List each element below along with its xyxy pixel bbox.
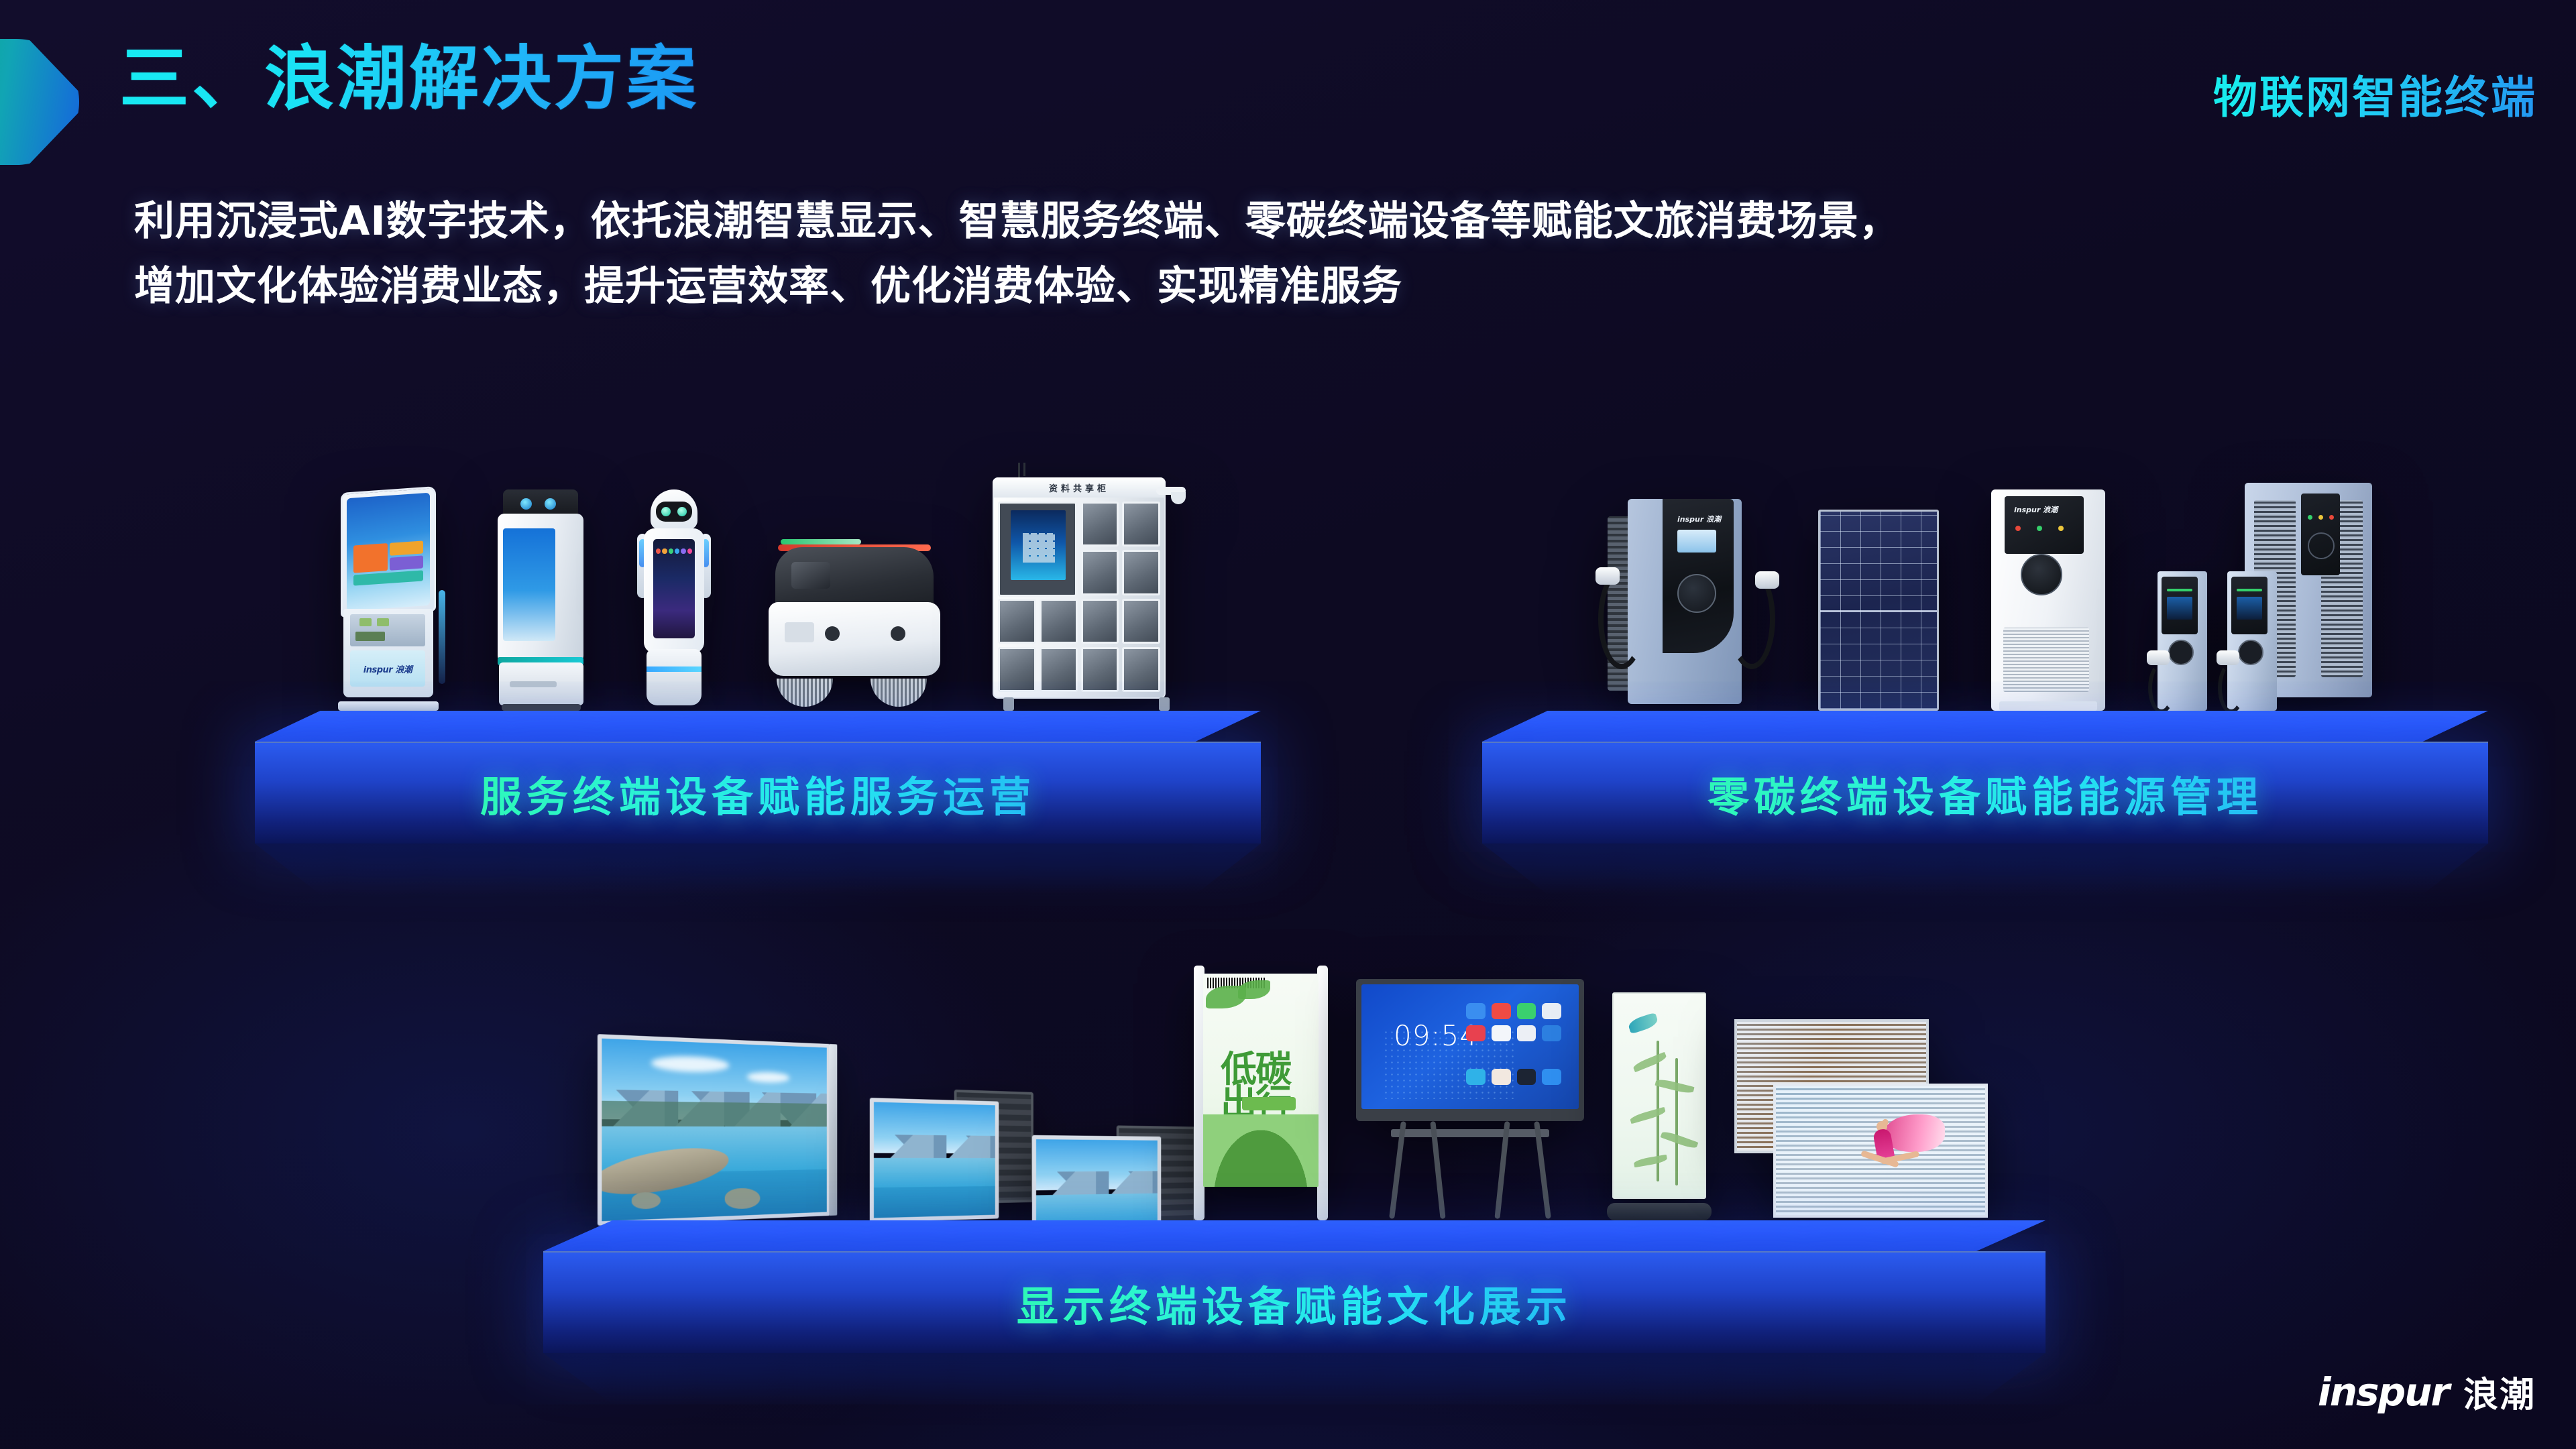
section-tag: 物联网智能终端 — [2213, 62, 2537, 126]
locker-caption: 资料共享柜 — [1049, 481, 1109, 494]
pillar-cable-2 — [2218, 662, 2245, 713]
device-cleaning-sweeper-robot — [758, 510, 952, 711]
rack-charge-pillar-1 — [2158, 571, 2207, 711]
lead-line-1: 利用沉浸式AI数字技术，依托浪潮智慧显示、智慧服务终端、零碳终端设备等赋能文旅消… — [134, 189, 2428, 254]
bamboo-leaf-3 — [1630, 1107, 1667, 1124]
banner-front-face: 显示终端设备赋能文化展示 — [543, 1251, 2046, 1353]
banner-label-display: 显示终端设备赋能文化展示 — [1017, 1273, 1572, 1333]
terminal-body — [498, 514, 583, 662]
banner-service-terminals: 服务终端设备赋能服务运营 — [255, 711, 1261, 844]
bamboo-leaf-2 — [1655, 1078, 1694, 1095]
device-energy-storage-cabinet: inspur 浪潮 — [1991, 489, 2105, 711]
kiosk-base — [338, 701, 439, 711]
lead-paragraph: 利用沉浸式AI数字技术，依托浪潮智慧显示、智慧服务终端、零碳终端设备等赋能文旅消… — [134, 189, 2428, 319]
locker-antenna-2 — [1023, 463, 1025, 476]
transparent-led-panel-front — [1773, 1084, 1988, 1218]
signage-poster: 低碳出行 — [1203, 974, 1319, 1187]
pillar-head-2 — [2231, 577, 2267, 634]
charger-gun-right[interactable] — [1755, 571, 1779, 589]
storage-control-panel: inspur 浪潮 — [2005, 496, 2084, 554]
locker-caster-right — [1159, 697, 1170, 711]
device-led-cabinet-module — [870, 1098, 999, 1222]
robot-face-icon — [656, 502, 692, 522]
signage-road-art — [1203, 1114, 1319, 1187]
banner-display-terminals: 显示终端设备赋能文化展示 — [543, 1220, 2046, 1353]
storage-base — [1999, 701, 2097, 711]
pillar-cable-1 — [2148, 662, 2175, 713]
charger-brand-label: inspur 浪潮 — [1677, 514, 1721, 524]
charger-display — [1677, 530, 1716, 553]
lead-line-2: 增加文化体验消费业态，提升运营效率、优化消费体验、实现精准服务 — [134, 254, 2428, 319]
logo-chinese-name: 浪潮 — [2463, 1367, 2536, 1417]
signage-cta-bar — [1242, 1097, 1296, 1110]
led-module-mountains — [874, 1135, 995, 1160]
storage-indicator-dial — [2021, 554, 2062, 595]
banner-top-face — [543, 1220, 2046, 1251]
device-row-display: 低碳出行 09:54 — [543, 925, 2046, 1220]
kiosk-screen — [347, 493, 430, 612]
slide-root: 三、浪潮解决方案 物联网智能终端 利用沉浸式AI数字技术，依托浪潮智慧显示、智慧… — [0, 0, 2576, 1449]
device-ev-charging-pile: inspur 浪潮 — [1598, 489, 1766, 711]
bamboo-leaf-5 — [1633, 1155, 1667, 1168]
group-display-terminals: 低碳出行 09:54 — [543, 925, 2046, 1353]
banner-top-face — [1482, 711, 2488, 742]
dancer-artwork — [1856, 1106, 1937, 1194]
led-wall-side-rail — [829, 1044, 837, 1216]
device-service-terminal-robot — [490, 489, 590, 711]
whiteboard-frame: 09:54 — [1356, 979, 1584, 1121]
device-transparent-led-screen — [1734, 1019, 1989, 1220]
device-art-display-panel — [1612, 992, 1706, 1220]
locker-caster-left — [1003, 697, 1014, 711]
terminal-base — [499, 662, 583, 705]
terminal-wheels — [502, 704, 581, 711]
sweeper-brush-right — [871, 679, 927, 707]
banner-zero-carbon: 零碳终端设备赋能能源管理 — [1482, 711, 2488, 844]
charger-gun-left[interactable] — [1595, 567, 1620, 585]
sweeper-hull — [769, 602, 940, 676]
kiosk-screen-housing — [341, 486, 436, 618]
charger-front-panel: inspur 浪潮 — [1663, 499, 1734, 653]
brand-logo: inspur 浪潮 — [2318, 1367, 2536, 1417]
pillar-gun-1[interactable] — [2147, 650, 2170, 665]
device-interactive-whiteboard: 09:54 — [1356, 979, 1584, 1220]
storage-vent-grille — [2003, 628, 2089, 692]
kiosk-dispenser-panel — [350, 614, 425, 646]
signage-post-right — [1317, 966, 1328, 1220]
pillar-head-1 — [2162, 577, 2198, 634]
page-title: 三、浪潮解决方案 — [119, 38, 699, 120]
rack-control-panel — [2301, 494, 2340, 575]
signage-leaf-2 — [1238, 980, 1270, 999]
pillar-gun-2[interactable] — [2217, 650, 2239, 665]
charger-connector-dial — [1677, 574, 1716, 613]
whiteboard-screen[interactable]: 09:54 — [1361, 984, 1579, 1109]
rack-charge-pillar-2 — [2227, 571, 2277, 711]
led-module-reflection — [874, 1158, 995, 1188]
led-wall-panel — [598, 1034, 830, 1226]
art-panel-screen — [1612, 992, 1706, 1199]
robot-torso — [644, 528, 704, 653]
bamboo-stalk-2 — [1675, 1058, 1678, 1185]
led-module-panel — [870, 1098, 999, 1222]
device-led-video-wall — [598, 1034, 830, 1226]
bamboo-leaf-1 — [1632, 1052, 1668, 1073]
terminal-screen — [503, 528, 555, 641]
sweeper-brush-left — [777, 679, 833, 707]
sweeper-sensor-window — [791, 562, 830, 589]
whiteboard-app-grid-top[interactable] — [1466, 1003, 1561, 1041]
led-wall-treeline — [602, 1100, 826, 1126]
bird-icon — [1627, 1012, 1659, 1035]
bamboo-leaf-4 — [1661, 1130, 1699, 1150]
kiosk-brand-plate: inspur 浪潮 — [350, 650, 425, 687]
device-row-zero-carbon: inspur 浪潮 inspur 浪潮 — [1482, 429, 2488, 711]
banner-front-face: 服务终端设备赋能服务运营 — [255, 742, 1261, 844]
device-self-service-kiosk: inspur 浪潮 — [335, 489, 449, 711]
logo-wordmark: inspur — [2318, 1369, 2449, 1415]
device-smart-locker-cabinet: 资料共享柜 — [993, 463, 1180, 711]
pillar-dial-2 — [2238, 640, 2263, 665]
whiteboard-shelf — [1391, 1129, 1549, 1137]
banner-label-zero-carbon: 零碳终端设备赋能能源管理 — [1707, 763, 2263, 823]
robot-head — [651, 489, 697, 530]
device-charging-station-rack — [2158, 483, 2372, 711]
group-zero-carbon-terminals: inspur 浪潮 inspur 浪潮 — [1482, 429, 2488, 844]
robot-base — [647, 649, 702, 705]
security-camera-icon — [1156, 487, 1186, 495]
device-row-service: inspur 浪潮 — [255, 429, 1261, 711]
banner-top-face — [255, 711, 1261, 742]
sweeper-status-light — [781, 539, 861, 544]
banner-front-face: 零碳终端设备赋能能源管理 — [1482, 742, 2488, 844]
device-digital-signage-kiosk: 低碳出行 — [1194, 966, 1328, 1220]
banner-label-service: 服务终端设备赋能服务运营 — [480, 763, 1035, 823]
art-panel-base — [1607, 1203, 1712, 1220]
kiosk-body: inspur 浪潮 — [343, 609, 433, 697]
solar-cell-array — [1818, 510, 1939, 711]
locker-control-screen[interactable] — [998, 502, 1077, 597]
kiosk-light-strip — [439, 590, 445, 684]
whiteboard-app-grid-bottom[interactable] — [1466, 1069, 1561, 1085]
kiosk-menu-tiles — [353, 540, 423, 586]
device-humanoid-guide-robot — [630, 489, 718, 711]
device-photovoltaic-solar-panel — [1818, 510, 1939, 711]
storage-brand-label: inspur 浪潮 — [2014, 504, 2058, 515]
group-service-terminals: inspur 浪潮 — [255, 429, 1261, 844]
robot-screen — [653, 539, 695, 638]
locker-header-strip: 资料共享柜 — [993, 477, 1166, 498]
chevron-right-icon — [0, 39, 79, 165]
pillar-dial-1 — [2168, 640, 2194, 665]
